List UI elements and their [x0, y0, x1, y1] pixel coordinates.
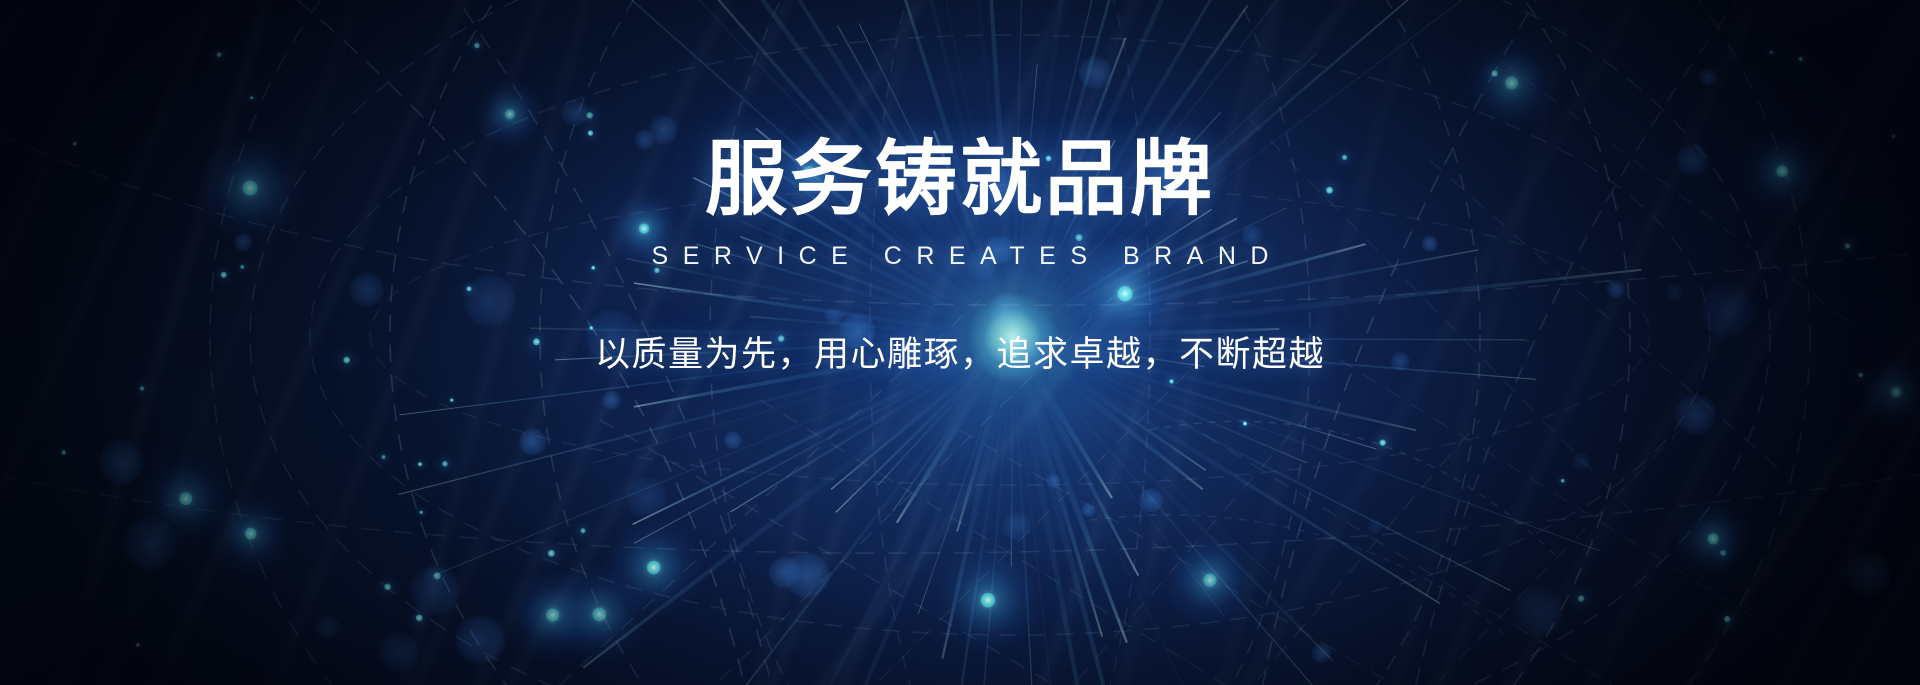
hero-banner: 服务铸就品牌 SERVICE CREATES BRAND 以质量为先，用心雕琢，…: [0, 0, 1920, 685]
banner-subheadline: SERVICE CREATES BRAND: [637, 242, 1283, 271]
banner-content: 服务铸就品牌 SERVICE CREATES BRAND 以质量为先，用心雕琢，…: [0, 0, 1920, 685]
banner-headline: 服务铸就品牌: [705, 138, 1215, 222]
banner-tagline: 以质量为先，用心雕琢，追求卓越，不断超越: [595, 326, 1325, 377]
